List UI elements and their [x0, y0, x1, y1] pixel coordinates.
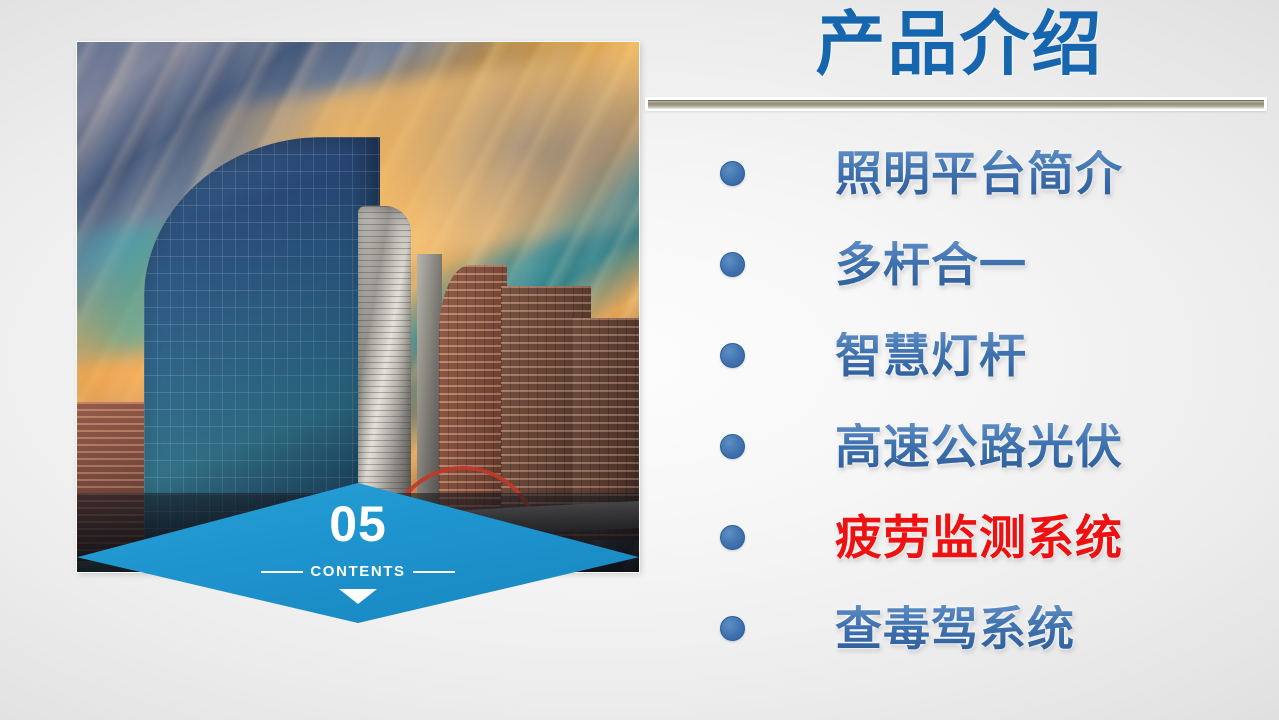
- list-item[interactable]: 多杆合一: [640, 219, 1279, 310]
- list-item-label: 照明平台简介: [835, 150, 1123, 197]
- list-item[interactable]: 照明平台简介: [640, 128, 1279, 219]
- page-title: 产品介绍: [640, 6, 1279, 83]
- title-divider-bar: [648, 100, 1264, 109]
- bullet-dot-icon: [720, 161, 745, 186]
- list-item-highlighted[interactable]: 疲劳监测系统: [640, 492, 1279, 583]
- bullet-dot-icon: [720, 434, 745, 459]
- list-item-label: 高速公路光伏: [835, 423, 1123, 470]
- list-item[interactable]: 智慧灯杆: [640, 310, 1279, 401]
- city-skyline-photo: [77, 42, 639, 572]
- list-item-label: 多杆合一: [835, 241, 1027, 288]
- presentation-slide: 05 CONTENTS 产品介绍 照明平台简介 多杆合一 智慧灯杆: [0, 0, 1279, 720]
- agenda-list: 照明平台简介 多杆合一 智慧灯杆 高速公路光伏 疲劳监测系统 查毒驾系统: [640, 128, 1279, 674]
- list-item-label: 智慧灯杆: [835, 332, 1027, 379]
- list-item-label: 疲劳监测系统: [835, 514, 1123, 561]
- bullet-dot-icon: [720, 525, 745, 550]
- photo-building-silver-tower: [358, 206, 411, 513]
- list-item[interactable]: 高速公路光伏: [640, 401, 1279, 492]
- photo-foreground-shadow: [77, 493, 639, 573]
- list-item[interactable]: 查毒驾系统: [640, 583, 1279, 674]
- down-caret-icon: [339, 589, 377, 604]
- list-item-label: 查毒驾系统: [835, 605, 1075, 652]
- bullet-dot-icon: [720, 252, 745, 277]
- title-divider: [645, 97, 1267, 111]
- content-column: 产品介绍 照明平台简介 多杆合一 智慧灯杆 高速公路光伏: [640, 0, 1279, 720]
- photo-sky: [77, 42, 639, 572]
- bullet-dot-icon: [720, 343, 745, 368]
- bullet-dot-icon: [720, 616, 745, 641]
